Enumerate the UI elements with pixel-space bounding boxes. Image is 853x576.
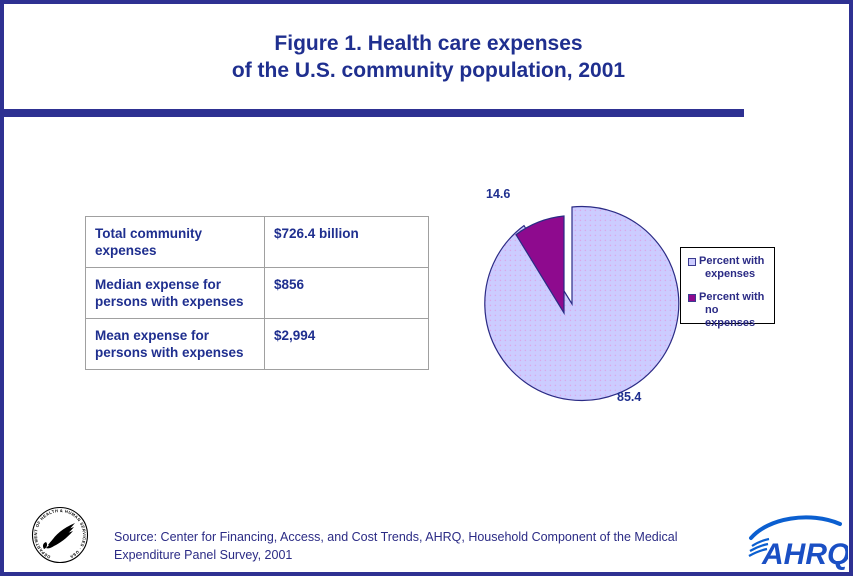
- pie-slice-percent-with-expenses: [485, 207, 679, 401]
- legend-label-line-2: expenses: [699, 268, 771, 281]
- pie-data-label-expenses: 85.4: [617, 390, 641, 404]
- health-expenses-table: Total community expenses $726.4 billion …: [85, 216, 429, 370]
- ahrq-wordmark: AHRQ: [761, 538, 848, 570]
- table-cell-label: Mean expense for persons with expenses: [86, 319, 265, 370]
- table-cell-value: $856: [265, 268, 429, 319]
- page-title: Figure 1. Health care expenses of the U.…: [8, 30, 849, 84]
- legend-swatch-icon: [688, 294, 696, 302]
- legend-item-percent-with-no-expenses[interactable]: Percent with no expenses: [688, 291, 771, 330]
- table-row: Mean expense for persons with expenses $…: [86, 319, 429, 370]
- legend-label-line-2: no expenses: [699, 304, 771, 330]
- hhs-seal-icon: DEPARTMENT OF HEALTH & HUMAN SERVICES · …: [22, 504, 98, 566]
- title-line-2: of the U.S. community population, 2001: [8, 57, 849, 84]
- pie-chart-svg: [459, 174, 699, 424]
- source-line-1: Source: Center for Financing, Access, an…: [114, 528, 734, 546]
- pie-data-label-no-expenses: 14.6: [486, 187, 510, 201]
- legend-swatch-icon: [688, 258, 696, 266]
- title-line-1: Figure 1. Health care expenses: [8, 30, 849, 57]
- table-cell-value: $2,994: [265, 319, 429, 370]
- figure-page: Figure 1. Health care expenses of the U.…: [0, 0, 853, 576]
- source-note: Source: Center for Financing, Access, an…: [114, 528, 734, 564]
- legend-label-line-1: Percent with: [699, 255, 764, 267]
- source-line-2: Expenditure Panel Survey, 2001: [114, 546, 734, 564]
- legend-label-line-1: Percent with: [699, 291, 764, 303]
- chart-legend: Percent with expenses Percent with no ex…: [680, 247, 775, 324]
- table-row: Total community expenses $726.4 billion: [86, 217, 429, 268]
- legend-item-percent-with-expenses[interactable]: Percent with expenses: [688, 255, 771, 281]
- table-cell-value: $726.4 billion: [265, 217, 429, 268]
- table-cell-label: Total community expenses: [86, 217, 265, 268]
- header-divider-bar: [4, 109, 744, 117]
- table-cell-label: Median expense for persons with expenses: [86, 268, 265, 319]
- table-row: Median expense for persons with expenses…: [86, 268, 429, 319]
- ahrq-logo: AHRQ: [748, 512, 848, 570]
- legend-item-label: Percent with no expenses: [699, 291, 771, 330]
- legend-item-label: Percent with expenses: [699, 255, 771, 281]
- hhs-seal-logo: DEPARTMENT OF HEALTH & HUMAN SERVICES · …: [22, 504, 98, 566]
- pie-chart: 14.6 85.4: [459, 174, 699, 424]
- ahrq-logo-icon: AHRQ: [748, 512, 848, 570]
